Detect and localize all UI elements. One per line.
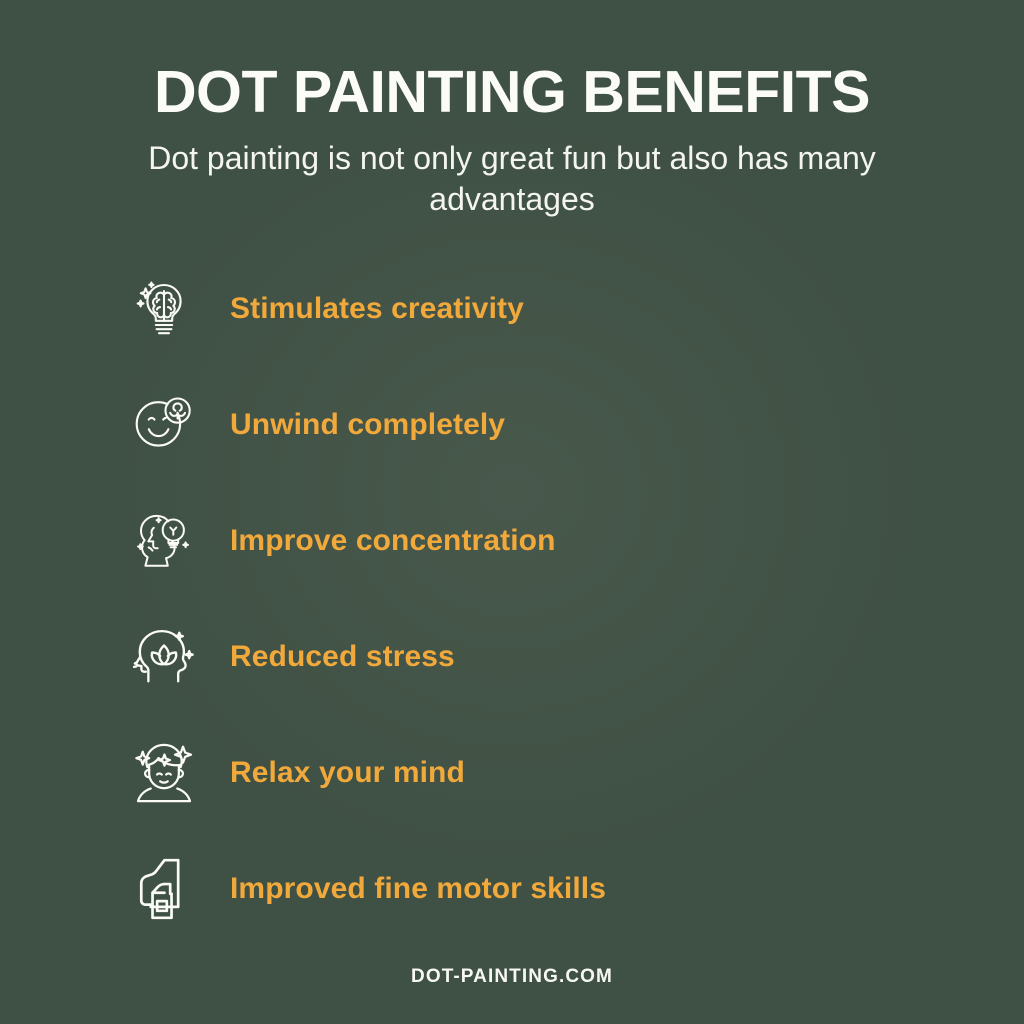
list-item: Improve concentration	[128, 504, 928, 578]
website-url: DOT-PAINTING.COM	[411, 966, 613, 987]
head-lotus-icon	[128, 621, 200, 693]
benefit-label: Stimulates creativity	[230, 292, 524, 326]
smiling-face-flower-icon	[128, 389, 200, 461]
list-item: Improved fine motor skills	[128, 852, 928, 926]
header: DOT PAINTING BENEFITS Dot painting is no…	[0, 62, 1024, 220]
list-item: Stimulates creativity	[128, 272, 928, 346]
benefit-label: Unwind completely	[230, 408, 505, 442]
head-lightbulb-icon	[128, 505, 200, 577]
brain-lightbulb-icon	[128, 273, 200, 345]
poster-canvas: DOT PAINTING BENEFITS Dot painting is no…	[0, 0, 1024, 1024]
footer: DOT-PAINTING.COM	[0, 966, 1024, 988]
benefit-label: Improved fine motor skills	[230, 872, 606, 906]
page-title: DOT PAINTING BENEFITS	[0, 62, 1024, 124]
list-item: Unwind completely	[128, 388, 928, 462]
list-item: Relax your mind	[128, 736, 928, 810]
benefit-label: Reduced stress	[230, 640, 455, 674]
page-subtitle: Dot painting is not only great fun but a…	[142, 138, 882, 220]
relaxed-face-sparkles-icon	[128, 737, 200, 809]
hand-dotting-tool-icon	[128, 853, 200, 925]
list-item: Reduced stress	[128, 620, 928, 694]
benefits-list: Stimulates creativity Unwind completely	[128, 272, 928, 968]
benefit-label: Relax your mind	[230, 756, 465, 790]
benefit-label: Improve concentration	[230, 524, 556, 558]
